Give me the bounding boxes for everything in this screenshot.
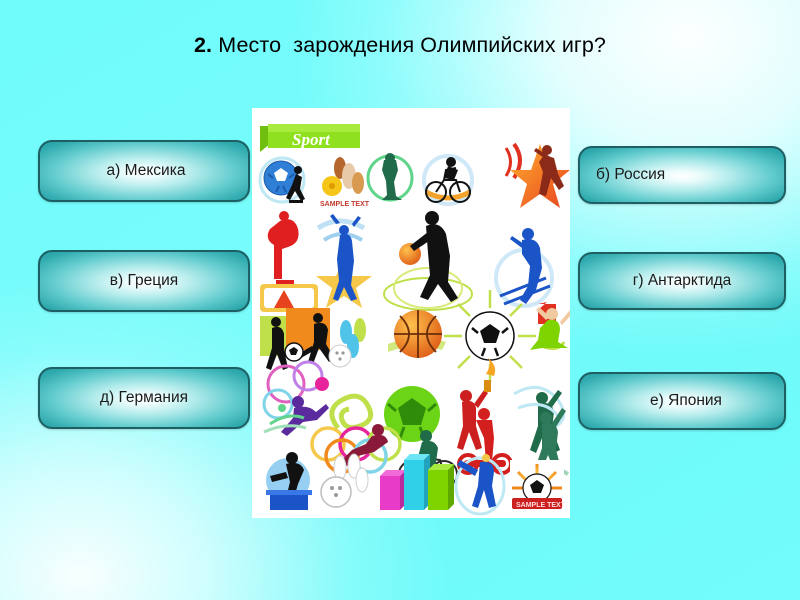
answer-button-a[interactable]: а) Мексика [38,140,250,202]
answer-label-a: а) Мексика [40,162,248,180]
sports-collage-image: Sport SAMPLE TEXT [252,108,570,518]
answer-button-e[interactable]: е) Япония [578,372,786,430]
answer-label-b: б) Россия [580,166,784,184]
sport-banner-icon: Sport [260,124,360,152]
gym-mat-icon [260,284,318,312]
page-title: 2. Место зарождения Олимпийских игр? [0,33,800,58]
question-number: 2. [194,33,212,57]
sample-text-top: SAMPLE TEXT [320,201,370,208]
answer-label-e: е) Япония [580,392,784,410]
answer-label-g: г) Антарктида [580,272,784,290]
answer-button-d[interactable]: д) Германия [38,367,250,429]
slide-canvas: 2. Место зарождения Олимпийских игр? [0,0,800,600]
question-text: Место зарождения Олимпийских игр? [212,33,606,57]
answer-button-v[interactable]: в) Греция [38,250,250,312]
answer-button-b[interactable]: б) Россия [578,146,786,204]
answer-label-v: в) Греция [40,272,248,290]
soccer-sunburst-badge: SAMPLE TEXT [510,460,566,510]
sample-text-bottom: SAMPLE TEXT [516,502,566,509]
svg-text:Sport: Sport [292,130,331,149]
answer-button-g[interactable]: г) Антарктида [578,252,786,310]
answer-label-d: д) Германия [40,389,248,407]
